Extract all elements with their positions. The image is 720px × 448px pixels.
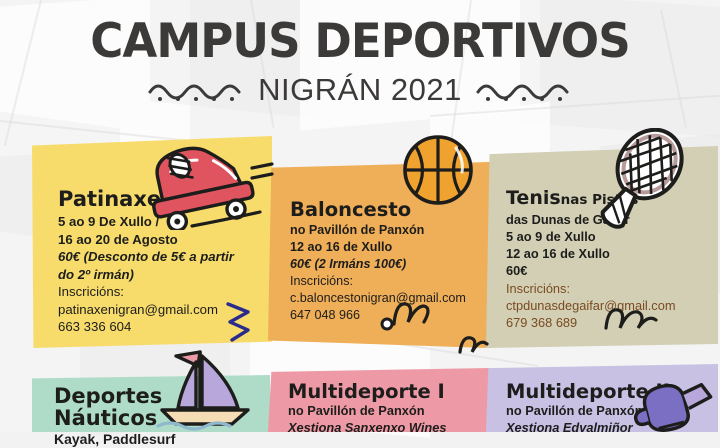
organizer-line: Xestiona Sanxenxo Wines [288,420,493,437]
date-line-1: 5 ao 9 De Xullo / [58,213,273,231]
card-title: Patinaxe [58,188,273,210]
venue-line: no Pavillón de Panxón [290,222,490,239]
price-line: 60€ (2 Irmáns 100€) [290,256,490,273]
organizer-line: Xestiona Edvalmiñor [506,420,718,437]
card-title: Baloncesto [290,200,490,220]
subtitle-row: NIGRÁN 2021 [0,74,720,105]
venue-line: no Pavillón de Panxón [288,403,493,420]
squiggle-z-icon [222,296,256,346]
page-subtitle: NIGRÁN 2021 [258,74,462,105]
squiggle-curl-icon [456,330,490,360]
inscriptions-label: Inscricións: [290,273,490,290]
card-subtitle: Kayak, Paddlesurf [54,431,269,448]
card-title: Tenisnas Pistas [506,188,718,209]
venue-line: das Dunas de Gaifar [506,211,718,228]
card-title: Multideporte II [506,382,718,402]
price-line: 60€ (Desconto de 5€ a partir [58,248,273,266]
date-line-2: 12 ao 16 de Xullo [506,245,718,262]
price-line: 60€ [506,262,718,279]
poster-header: CAMPUS DEPORTIVOS NIGRÁN 2021 [0,0,720,105]
card-content: Deportes Náuticos Kayak, Paddlesurf [54,385,269,448]
wave-dots-icon [476,78,572,102]
squiggle-loop-icon [378,296,434,334]
card-multideporte-2[interactable]: Multideporte II no Pavillón de Panxón Xe… [486,364,718,432]
wave-dots-icon [148,78,244,102]
venue-line: no Pavillón de Panxón [506,403,718,420]
card-content: Multideporte I no Pavillón de Panxón Xes… [288,382,493,437]
card-title-main: Tenis [506,187,561,209]
squiggle-loop-icon [600,302,662,338]
card-title-line-1: Deportes [54,385,269,407]
date-line: 12 ao 16 de Xullo [290,239,490,256]
card-title: Deportes Náuticos [54,385,269,430]
price-line-cont: do 2º irmán) [58,266,273,284]
card-title-line-2: Náuticos [54,407,269,429]
inscriptions-label: Inscricións: [506,280,718,297]
page-title: CAMPUS DEPORTIVOS [14,18,705,65]
card-deportes-nauticos[interactable]: Deportes Náuticos Kayak, Paddlesurf [32,375,270,432]
card-title-suffix: nas Pistas [561,192,639,208]
date-line-2: 16 ao 20 de Agosto [58,231,273,249]
card-content: Multideporte II no Pavillón de Panxón Xe… [506,382,718,437]
date-line-1: 5 ao 9 de Xullo [506,228,718,245]
card-title: Multideporte I [288,382,493,402]
card-multideporte-1[interactable]: Multideporte I no Pavillón de Panxón Xes… [268,368,490,432]
